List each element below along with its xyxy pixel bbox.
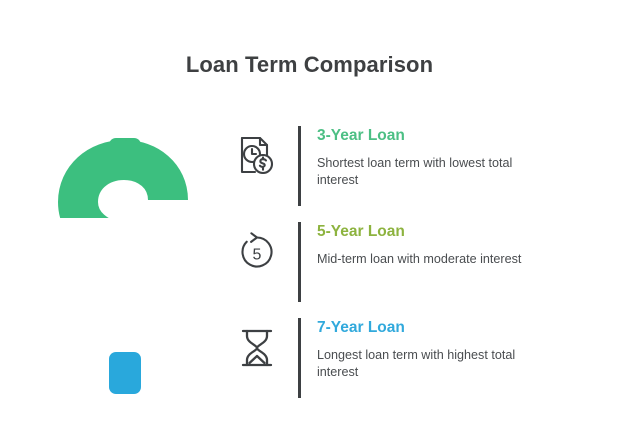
dollar-stem-bottom xyxy=(109,352,141,394)
loan-term-list: 3-Year Loan Shortest loan term with lowe… xyxy=(236,126,536,414)
document-clock-dollar-icon xyxy=(236,132,278,180)
list-item-5-year-loan[interactable]: 5 5-Year Loan Mid-term loan with moderat… xyxy=(236,222,536,304)
svg-text:5: 5 xyxy=(253,247,262,264)
circular-arrow-five-icon: 5 xyxy=(236,228,278,276)
item-heading: 5-Year Loan xyxy=(317,223,536,242)
item-divider xyxy=(298,318,301,398)
hourglass-icon xyxy=(236,324,278,372)
item-divider xyxy=(298,222,301,302)
item-description: Shortest loan term with lowest total int… xyxy=(317,155,529,191)
page-title: Loan Term Comparison xyxy=(0,52,619,78)
dollar-sign-illustration xyxy=(40,130,210,402)
dollar-s-body xyxy=(78,160,172,334)
item-heading: 3-Year Loan xyxy=(317,127,536,146)
item-text-block: 7-Year Loan Longest loan term with highe… xyxy=(317,318,536,382)
item-divider xyxy=(298,126,301,206)
item-description: Longest loan term with highest total int… xyxy=(317,347,529,383)
list-item-7-year-loan[interactable]: 7-Year Loan Longest loan term with highe… xyxy=(236,318,536,400)
item-heading: 7-Year Loan xyxy=(317,319,536,338)
list-item-3-year-loan[interactable]: 3-Year Loan Shortest loan term with lowe… xyxy=(236,126,536,208)
item-description: Mid-term loan with moderate interest xyxy=(317,251,529,269)
item-text-block: 5-Year Loan Mid-term loan with moderate … xyxy=(317,222,536,268)
infographic-canvas: Loan Term Comparison xyxy=(0,0,619,432)
item-text-block: 3-Year Loan Shortest loan term with lowe… xyxy=(317,126,536,190)
